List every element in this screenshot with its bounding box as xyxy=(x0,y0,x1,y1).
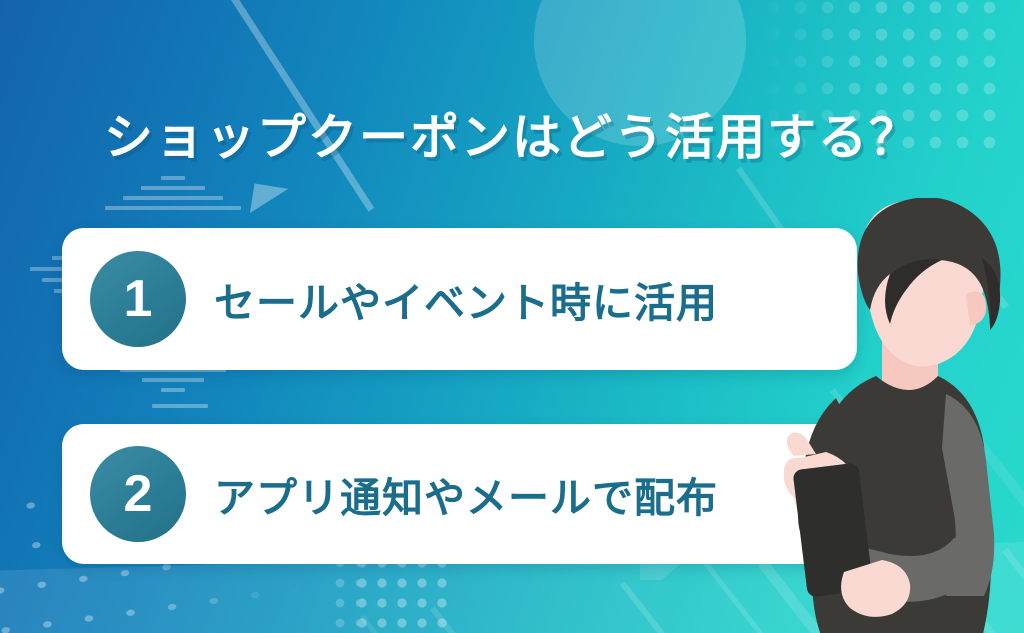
dot-pattern-bottom-mid-decoration xyxy=(352,553,452,633)
list-item[interactable]: 1 セールやイベント時に活用 xyxy=(62,228,857,370)
page-title: ショップクーポンはどう活用する？ xyxy=(0,98,1024,169)
diagonal-line-decoration xyxy=(620,581,705,633)
list-item[interactable]: 2 アプリ通知やメールで配布 xyxy=(62,424,855,564)
person-holding-smartphone-illustration xyxy=(770,198,1024,633)
triangle-accent-icon xyxy=(250,184,288,219)
diagonal-line-decoration xyxy=(360,615,432,633)
dot-pattern-bottom-mid-fade-decoration xyxy=(330,553,358,633)
list-item-number-badge: 2 xyxy=(90,446,186,542)
infographic-canvas: ショップクーポンはどう活用する？ 1 セールやイベント時に活用 2 アプリ通知や… xyxy=(0,0,1024,633)
line-stack-decoration xyxy=(150,404,210,414)
list-item-label: セールやイベント時に活用 xyxy=(214,269,718,329)
line-stack-decoration xyxy=(118,368,228,398)
diagonal-line-decoration xyxy=(430,606,509,633)
list-item-label: アプリ通知やメールで配布 xyxy=(214,464,718,524)
line-stack-decoration xyxy=(103,176,243,216)
list-item-number-badge: 1 xyxy=(90,251,186,347)
